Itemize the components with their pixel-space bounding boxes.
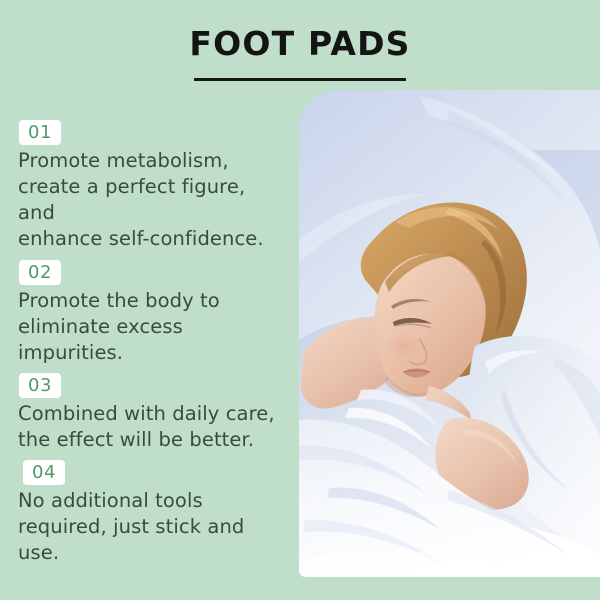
page-title: FOOT PADS <box>0 24 600 64</box>
feature-description: No additional tools required, just stick… <box>18 488 286 566</box>
feature-description: Combined with daily care, the effect wil… <box>18 401 286 453</box>
photo-illustration <box>299 90 600 577</box>
sleeping-woman-photo <box>299 90 600 577</box>
poster-canvas: FOOT PADS 01 Promote metabolism, create … <box>0 0 600 600</box>
feature-number-badge: 03 <box>19 373 61 398</box>
feature-number-badge: 04 <box>23 460 65 485</box>
list-item: 04 No additional tools required, just st… <box>18 460 286 566</box>
list-item: 02 Promote the body to eliminate excess … <box>18 260 286 366</box>
title-underline <box>194 78 406 81</box>
title-block: FOOT PADS <box>0 24 600 81</box>
list-item: 01 Promote metabolism, create a perfect … <box>18 120 286 252</box>
feature-description: Promote metabolism, create a perfect fig… <box>18 148 286 252</box>
feature-number-badge: 02 <box>19 260 61 285</box>
feature-number-badge: 01 <box>19 120 61 145</box>
feature-description: Promote the body to eliminate excess imp… <box>18 288 286 366</box>
list-item: 03 Combined with daily care, the effect … <box>18 373 286 453</box>
feature-list: 01 Promote metabolism, create a perfect … <box>18 120 286 570</box>
